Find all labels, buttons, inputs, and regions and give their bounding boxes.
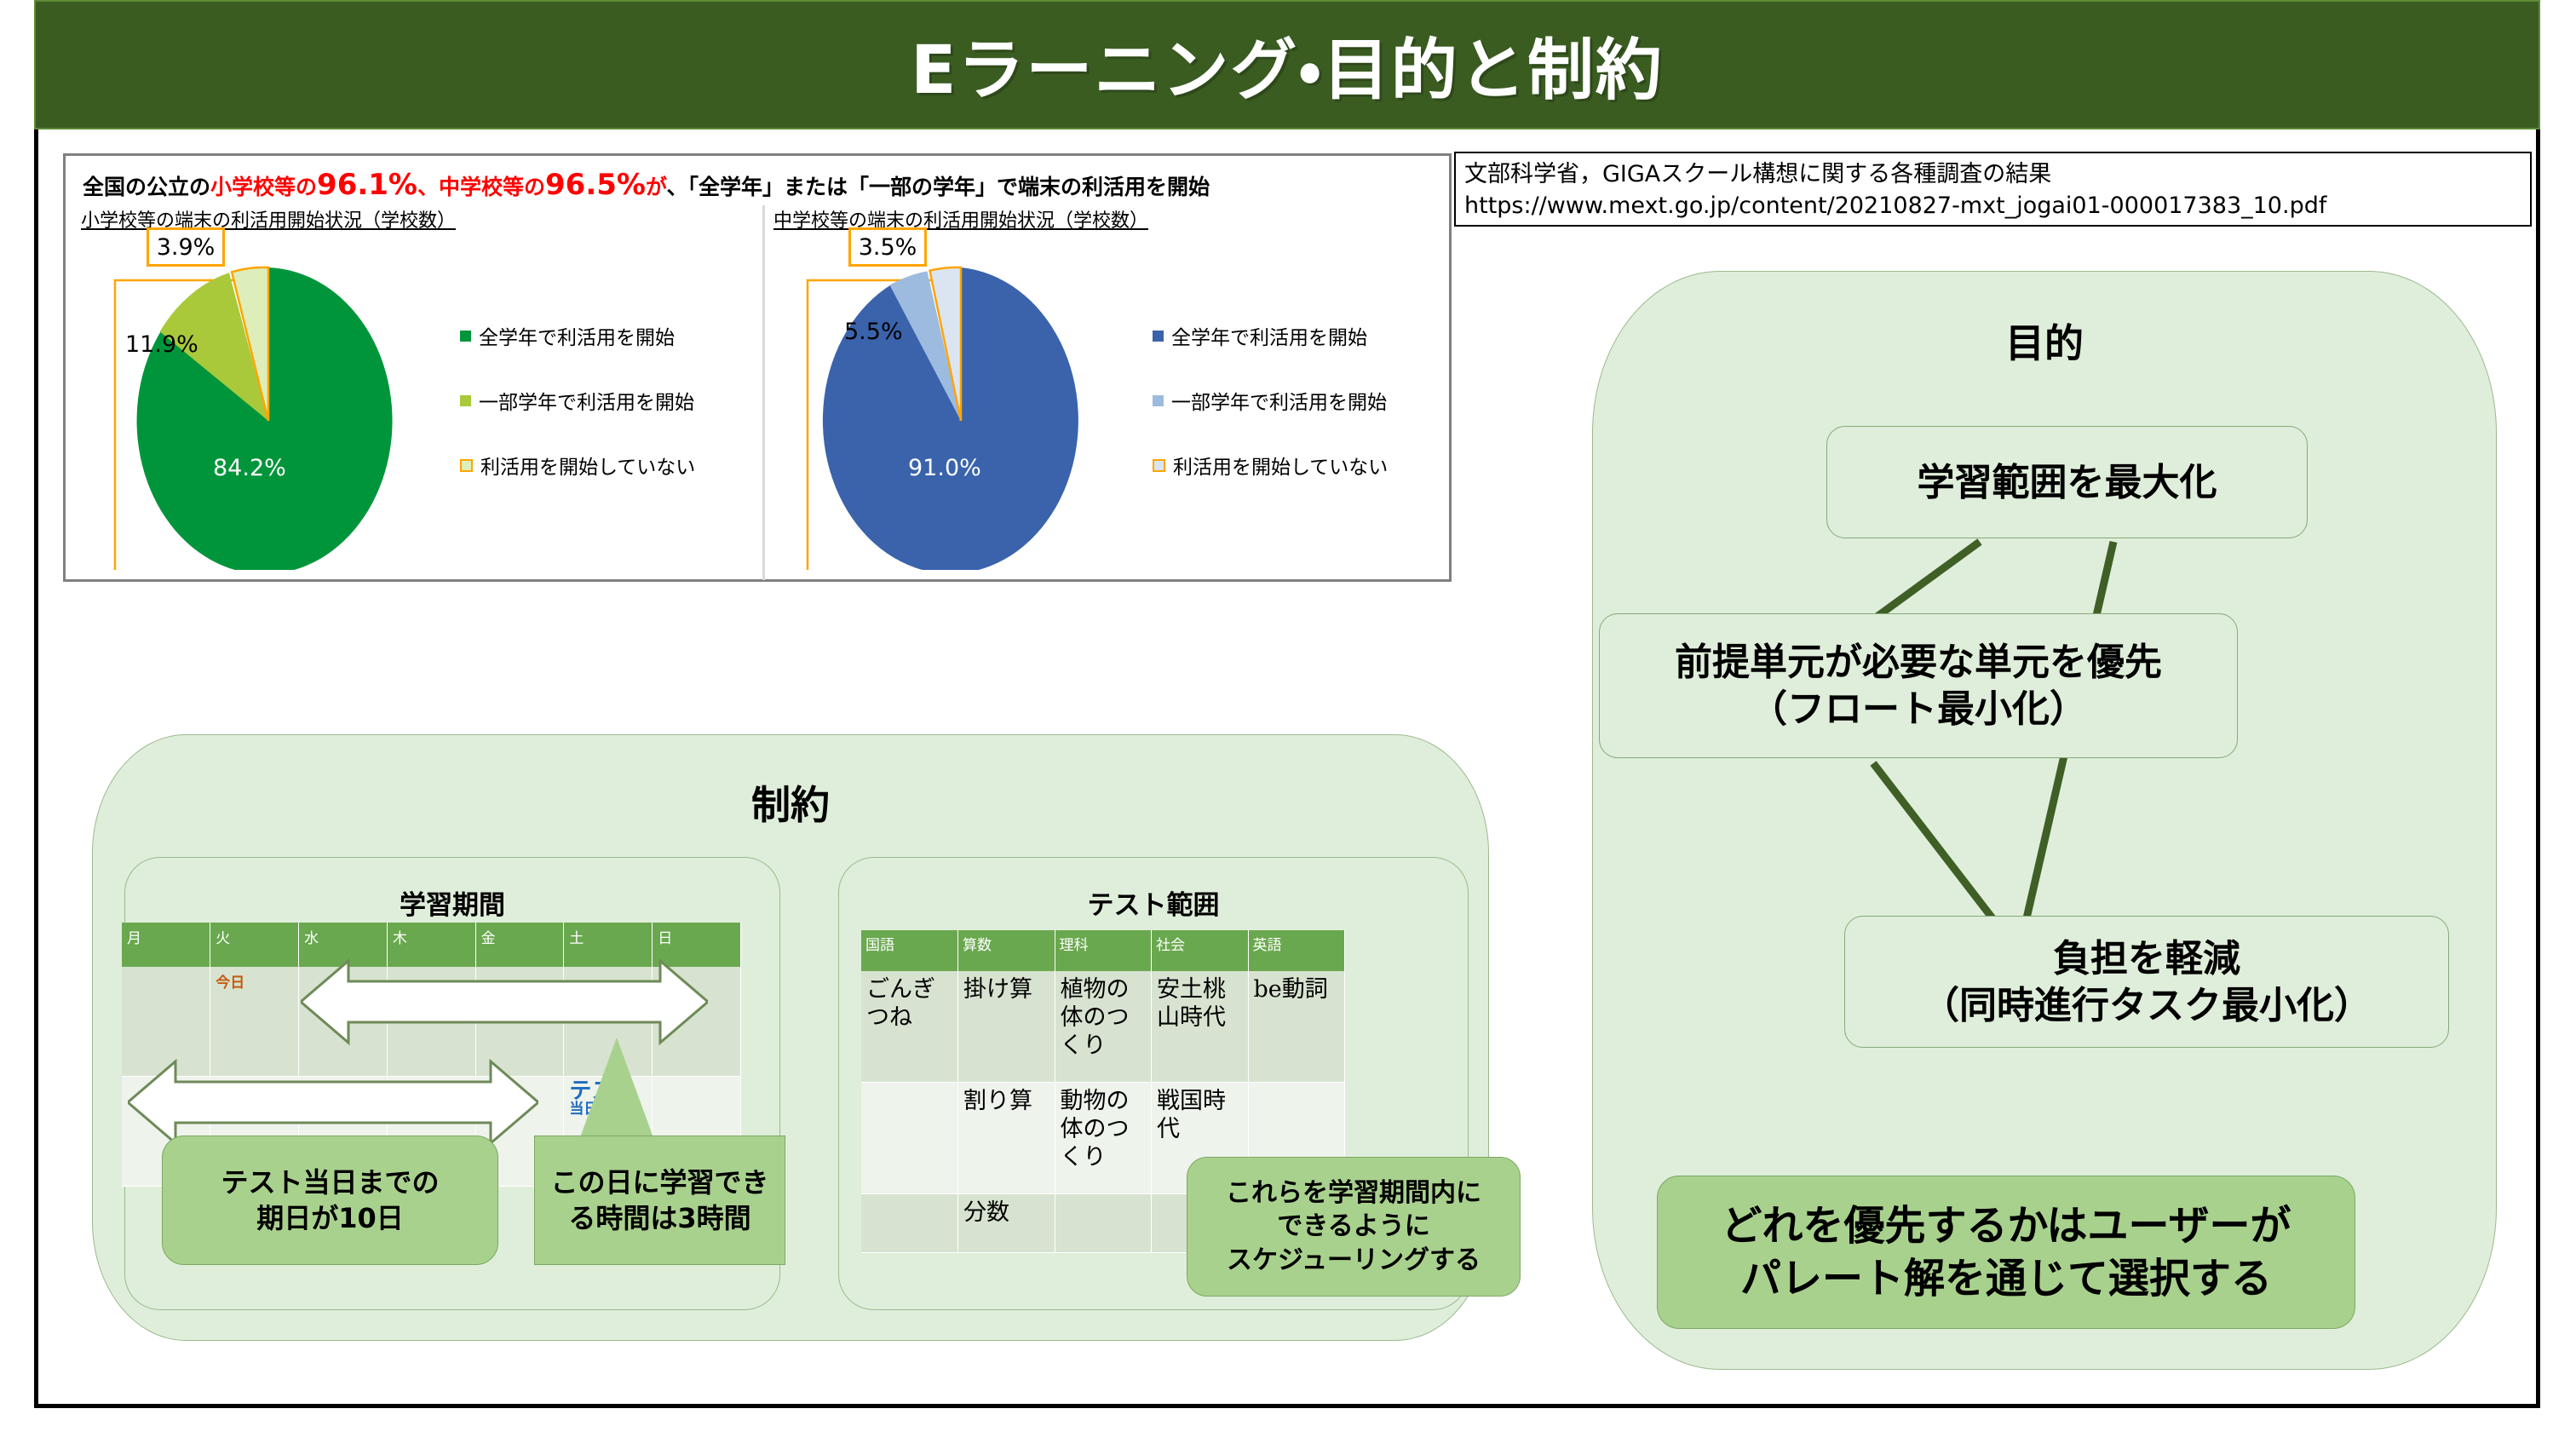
range-header-shakai: 社会: [1152, 930, 1249, 971]
legend-label: 全学年で利活用を開始: [1171, 321, 1367, 350]
range-header-eigo: 英語: [1248, 930, 1345, 971]
elementary-slice-label-1: 84.2%: [213, 455, 286, 481]
headline-red1: 小学校等の: [210, 175, 317, 199]
range-header-rika: 理科: [1055, 930, 1152, 971]
legend-label: 利活用を開始していない: [480, 451, 695, 480]
goal-node-maximize-scope[interactable]: 学習範囲を最大化: [1826, 426, 2308, 538]
goal-node-prerequisite-priority[interactable]: 前提単元が必要な単元を優先 （フロート最小化）: [1599, 613, 2238, 758]
range-header-row: 国語 算数 理科 社会 英語: [861, 930, 1345, 971]
note-available-hours[interactable]: この日に学習でき る時間は3時間: [534, 1136, 785, 1265]
legend-item: 全学年で利活用を開始: [1153, 303, 1442, 368]
legend-item: 一部学年で利活用を開始: [1153, 368, 1442, 433]
legend-swatch-icon: [1153, 459, 1165, 472]
juniorhigh-slice-label-2: 5.5%: [844, 319, 903, 345]
headline-part2: 、「全学年」または「一部の学年」で端末の利活用を開始: [667, 175, 1210, 199]
range-cell: [861, 1194, 958, 1253]
range-cell: ごんぎ つね: [861, 971, 958, 1083]
legend-swatch-icon: [1153, 331, 1164, 342]
source-line-2[interactable]: https://www.mext.go.jp/content/20210827-…: [1464, 190, 2521, 221]
range-cell: 掛け算: [958, 971, 1055, 1083]
range-cell: 動物の 体のつ くり: [1055, 1083, 1152, 1194]
page-title: Eラーニング・目的と制約: [911, 17, 1664, 112]
legend-swatch-icon: [1153, 395, 1164, 406]
legend-label: 一部学年で利活用を開始: [1171, 386, 1387, 415]
pareto-selection-note[interactable]: どれを優先するかはユーザーが パレート解を通じて選択する: [1657, 1176, 2355, 1329]
juniorhigh-pie-graphic: 91.0% 5.5% 3.5%: [769, 229, 1153, 570]
legend-item: 利活用を開始していない: [460, 433, 750, 497]
source-line-1: 文部科学省，GIGAスクール構想に関する各種調査の結果: [1464, 158, 2521, 190]
elementary-slice-label-2: 11.9%: [125, 331, 198, 358]
study-span-arrow-upper: [301, 956, 708, 1048]
source-citation-box: 文部科学省，GIGAスクール構想に関する各種調査の結果 https://www.…: [1454, 152, 2532, 227]
study-period-title: 学習期間: [125, 883, 779, 922]
hours-note-pointer: [579, 1038, 654, 1140]
elementary-pie-chart: 小学校等の端末の利活用開始状況（学校数） 84.2% 11.9% 3.9%: [72, 205, 765, 580]
calendar-header-mon: 月: [122, 923, 210, 967]
headline-big1: 96.1%: [317, 168, 417, 202]
chart-headline: 全国の公立の小学校等の96.1%、中学校等の96.5%が、「全学年」または「一部…: [83, 168, 1437, 202]
goal-node-reduce-burden[interactable]: 負担を軽減 （同時進行タスク最小化）: [1844, 916, 2449, 1048]
range-cell: 安土桃 山時代: [1152, 971, 1249, 1083]
legend-item: 全学年で利活用を開始: [460, 303, 750, 368]
note-deadline-10-days[interactable]: テスト当日までの 期日が10日: [162, 1136, 498, 1265]
headline-part1: 全国の公立の: [83, 175, 210, 199]
calendar-header-tue: 火: [210, 923, 299, 967]
mext-chart-card: 全国の公立の小学校等の96.1%、中学校等の96.5%が、「全学年」または「一部…: [63, 153, 1452, 582]
slide-title-banner: Eラーニング・目的と制約: [34, 0, 2540, 129]
elementary-callout-box: 3.9%: [147, 227, 225, 267]
legend-item: 利活用を開始していない: [1153, 433, 1442, 497]
juniorhigh-callout-box: 3.5%: [848, 227, 927, 267]
range-cell: [1055, 1194, 1152, 1253]
legend-label: 全学年で利活用を開始: [479, 321, 675, 350]
constraint-panel-title: 制約: [93, 774, 1488, 831]
range-cell: 植物の 体のつ くり: [1055, 971, 1152, 1083]
legend-label: 一部学年で利活用を開始: [479, 386, 694, 415]
headline-red2: 、中学校等の: [417, 175, 545, 199]
today-label: 今日: [216, 975, 244, 992]
range-cell: 割り算: [958, 1083, 1055, 1194]
headline-red3: が: [646, 175, 667, 199]
range-header-kokugo: 国語: [861, 930, 958, 971]
elementary-pie-graphic: 84.2% 11.9% 3.9%: [77, 229, 460, 570]
range-header-sansu: 算数: [958, 930, 1055, 971]
juniorhigh-pie-chart: 中学校等の端末の利活用開始状況（学校数） 91.0% 5.5% 3.5%: [765, 205, 1446, 580]
legend-swatch-icon: [460, 395, 471, 406]
deadline-span-arrow-lower: [128, 1056, 538, 1148]
juniorhigh-chart-legend: 全学年で利活用を開始 一部学年で利活用を開始 利活用を開始していない: [1153, 303, 1442, 497]
juniorhigh-slice-label-1: 91.0%: [908, 455, 981, 481]
headline-big2: 96.5%: [545, 168, 646, 202]
range-cell: 分数: [958, 1194, 1055, 1253]
range-cell: [861, 1083, 958, 1194]
note-scheduling-instruction[interactable]: これらを学習期間内に できるように スケジューリングする: [1187, 1157, 1521, 1297]
legend-swatch-icon: [460, 331, 471, 342]
table-row: ごんぎ つね 掛け算 植物の 体のつ くり 安土桃 山時代 be動詞: [861, 971, 1345, 1083]
range-cell: be動詞: [1248, 971, 1345, 1083]
legend-item: 一部学年で利活用を開始: [460, 368, 750, 433]
legend-label: 利活用を開始していない: [1173, 451, 1388, 480]
elementary-chart-legend: 全学年で利活用を開始 一部学年で利活用を開始 利活用を開始していない: [460, 303, 750, 497]
legend-swatch-icon: [460, 459, 473, 472]
test-range-title: テスト範囲: [839, 883, 1468, 922]
